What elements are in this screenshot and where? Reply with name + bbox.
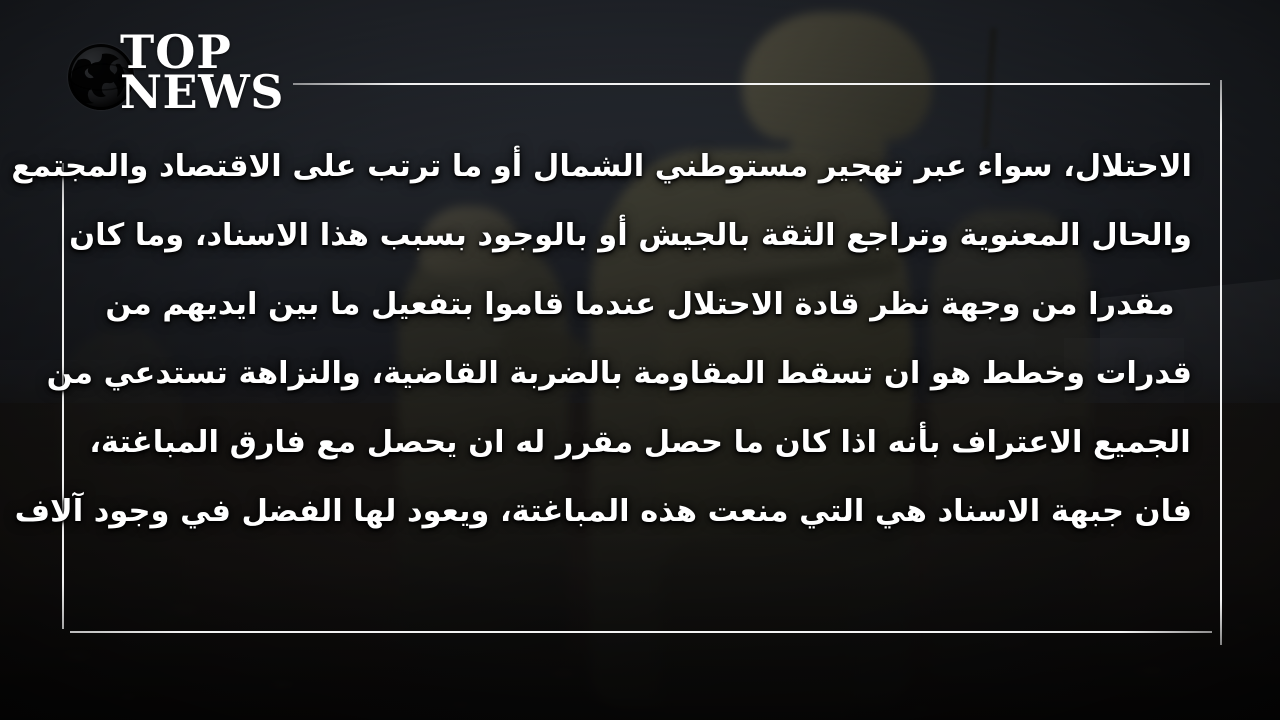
article-line: فان جبهة الاسناد هي التي منعت هذه المباغ…	[88, 477, 1192, 546]
brand-wordmark: TOP NEWS	[120, 33, 284, 112]
bottom-horizontal-rule	[70, 631, 1212, 633]
news-card: TOP NEWS الاحتلال، سواء عبر تهجير مستوطن…	[0, 0, 1280, 720]
brand-logo: TOP NEWS	[68, 33, 284, 112]
article-line: الاحتلال، سواء عبر تهجير مستوطني الشمال …	[88, 132, 1192, 201]
article-line: مقدرا من وجهة نظر قادة الاحتلال عندما قا…	[88, 270, 1192, 339]
brand-wordmark-line2: NEWS	[120, 73, 284, 113]
article-line: والحال المعنوية وتراجع الثقة بالجيش أو ب…	[88, 201, 1192, 270]
right-vertical-rule	[1220, 80, 1222, 645]
article-line: الجميع الاعتراف بأنه اذا كان ما حصل مقرر…	[88, 408, 1192, 477]
top-horizontal-rule	[293, 83, 1210, 85]
article-line: قدرات وخطط هو ان تسقط المقاومة بالضربة ا…	[88, 339, 1192, 408]
article-body: الاحتلال، سواء عبر تهجير مستوطني الشمال …	[88, 132, 1192, 546]
